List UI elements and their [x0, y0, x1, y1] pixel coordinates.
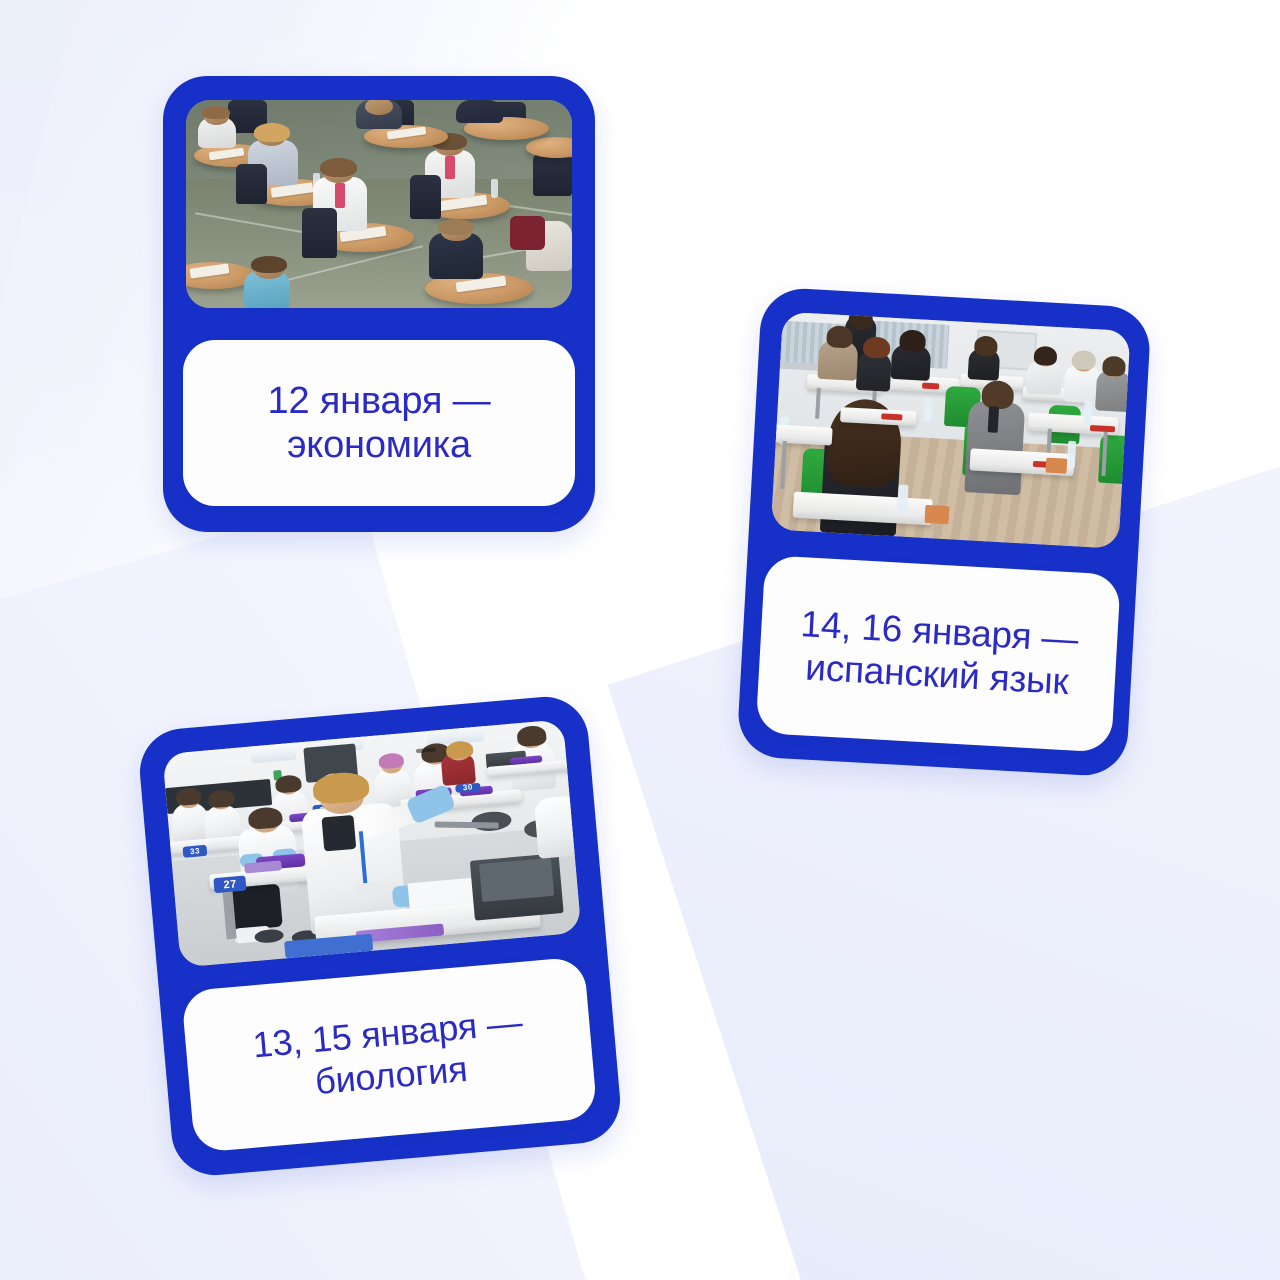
hall-table [526, 137, 572, 158]
classroom-water-bottle [897, 484, 909, 515]
classroom-proctor-hair [848, 312, 873, 330]
hall-chair [410, 175, 441, 219]
hall-chair [533, 154, 572, 196]
classroom-student-hair [863, 336, 891, 359]
poster-canvas: 12 января — экономика [0, 0, 1280, 1280]
card-label-biology: 13, 15 января — биология [239, 1000, 539, 1109]
card-biology[interactable]: 33 33 30 27 [136, 693, 623, 1179]
scene-classroom [771, 312, 1131, 549]
classroom-red-card [922, 383, 940, 390]
classroom-water-bottle [923, 398, 932, 422]
classroom-student-hair [826, 325, 854, 348]
classroom-student-hair [974, 335, 998, 356]
classroom-student-tie [988, 406, 1000, 433]
hall-person-hair [202, 106, 230, 118]
hall-person [456, 100, 502, 123]
lab-student-hero-collar [321, 815, 356, 852]
card-label-spanish: 14, 16 января — испанский язык [785, 603, 1091, 706]
label-plate-economics: 12 января — экономика [183, 340, 575, 506]
hall-chair [236, 164, 267, 204]
photo-biology-lab: 33 33 30 27 [162, 719, 581, 967]
classroom-student-hair [1071, 350, 1096, 371]
hall-chair [302, 208, 337, 258]
classroom-red-card [882, 413, 903, 420]
label-plate-spanish: 14, 16 января — испанский язык [755, 555, 1120, 753]
classroom-cup [1046, 457, 1068, 473]
classroom-student-hair [981, 380, 1015, 410]
hall-person [510, 216, 545, 249]
card-label-economics: 12 января — экономика [256, 379, 503, 467]
lab-student-coat [533, 795, 581, 859]
hall-person-hair [251, 256, 287, 273]
photo-classroom [771, 312, 1131, 549]
lab-skylight [250, 741, 296, 764]
hall-person-head [365, 100, 392, 115]
classroom-student-hair [1102, 356, 1127, 377]
scene-exam-hall [186, 100, 572, 308]
label-plate-biology: 13, 15 января — биология [181, 956, 598, 1153]
hall-person-lanyard [335, 183, 345, 208]
classroom-cup [925, 505, 950, 524]
photo-exam-hall [186, 100, 572, 308]
hall-water-bottle [491, 179, 498, 198]
card-economics[interactable]: 12 января — экономика [163, 76, 595, 532]
classroom-student-hair [899, 329, 927, 352]
lab-desk-number-badge: 33 [183, 845, 208, 858]
classroom-desk [771, 424, 832, 446]
lab-student-hair [445, 740, 473, 759]
lab-student-hero-badge [357, 881, 383, 900]
hall-person-hair [320, 158, 357, 177]
hall-person-hair [254, 123, 290, 142]
hall-person-lanyard [445, 156, 454, 179]
lab-student-hair [516, 725, 547, 747]
classroom-red-card [1090, 425, 1115, 432]
scene-biology-lab: 33 33 30 27 [162, 719, 581, 967]
hall-person-hair [438, 219, 474, 236]
classroom-water-bottle [1083, 401, 1092, 425]
lab-laptop-screen [479, 858, 554, 903]
card-spanish[interactable]: 14, 16 января — испанский язык [736, 286, 1152, 777]
